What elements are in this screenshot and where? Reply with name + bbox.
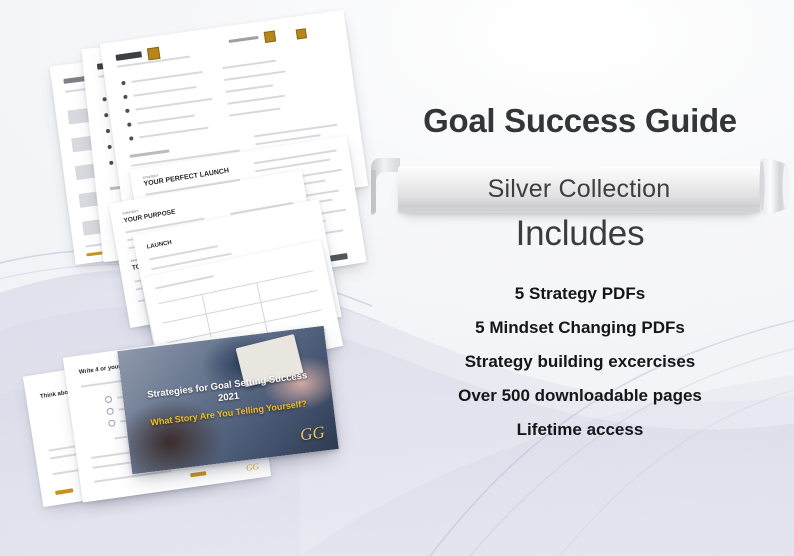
banner-tail-right-icon [756, 156, 790, 218]
ebook-cover: Strategies for Goal Setting Success 2021… [117, 326, 339, 474]
page-footer-monogram-icon: GG [245, 461, 259, 473]
list-item: Strategy building excercises [366, 344, 794, 378]
banner-label: Silver Collection [398, 166, 760, 213]
banner-band: Silver Collection [398, 166, 760, 213]
product-image-stack: STRATEGY YOUR PERFECT LAUNCH WHAT WILL Y… [0, 0, 400, 556]
cover-monogram-icon: GG [299, 423, 326, 446]
list-item: 5 Strategy PDFs [366, 276, 794, 310]
list-item: Lifetime access [366, 412, 794, 446]
list-item: Over 500 downloadable pages [366, 378, 794, 412]
features-list: 5 Strategy PDFs 5 Mindset Changing PDFs … [366, 276, 794, 446]
page-title: Goal Success Guide [366, 104, 794, 137]
promo-graphic-canvas: STRATEGY YOUR PERFECT LAUNCH WHAT WILL Y… [0, 0, 794, 556]
includes-heading: Includes [366, 216, 794, 251]
list-item: 5 Mindset Changing PDFs [366, 310, 794, 344]
promo-text-column: Goal Success Guide Silver Collection [366, 0, 794, 556]
